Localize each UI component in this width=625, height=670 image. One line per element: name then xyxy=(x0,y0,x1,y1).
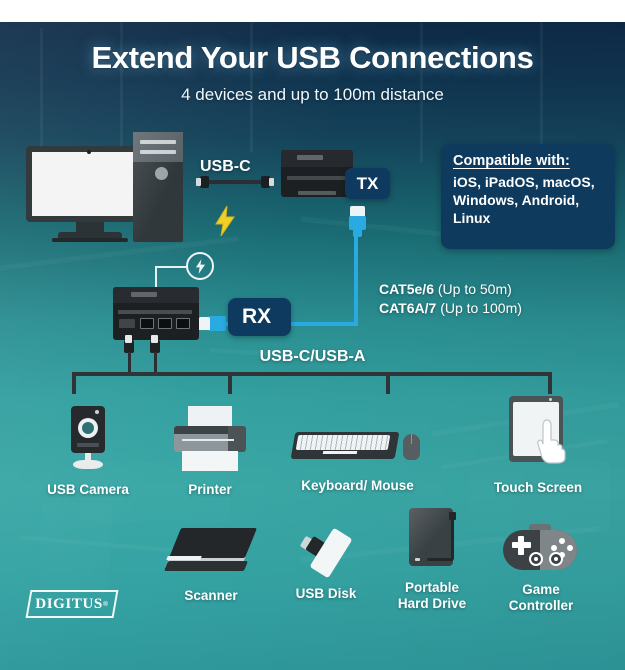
power-lead-line xyxy=(155,266,187,268)
digitus-logo-text: DIGITUS® xyxy=(28,590,116,618)
cable-distance: (Up to 50m) xyxy=(438,281,512,297)
device-keyboard-mouse: Keyboard/ Mouse xyxy=(285,406,430,494)
trademark-symbol: ® xyxy=(103,600,109,608)
page-title: Extend Your USB Connections xyxy=(0,40,625,76)
tx-badge: TX xyxy=(345,168,390,199)
compatibility-box: Compatible with: iOS, iPadOS, macOS, Win… xyxy=(441,144,615,249)
device-label-line2: Hard Drive xyxy=(382,596,482,612)
usb-disk-icon xyxy=(302,522,350,580)
device-usb-disk: USB Disk xyxy=(278,522,374,602)
rx-badge: RX xyxy=(228,298,291,336)
device-label-line1: Portable xyxy=(382,580,482,596)
device-scanner: Scanner xyxy=(152,528,270,604)
device-label: Printer xyxy=(152,482,268,498)
page-subtitle: 4 devices and up to 100m distance xyxy=(0,85,625,105)
usb-camera-icon xyxy=(59,406,117,472)
usb-c-usb-a-label: USB-C/USB-A xyxy=(0,348,625,366)
touch-screen-icon xyxy=(501,396,575,472)
device-label: Scanner xyxy=(152,588,270,604)
printer-icon xyxy=(168,406,252,472)
keyboard-mouse-icon xyxy=(293,406,423,472)
device-label: Touch Screen xyxy=(478,480,598,496)
monitor-webcam-dot xyxy=(87,150,91,154)
device-printer: Printer xyxy=(152,406,268,498)
cable-standard: CAT6A/7 xyxy=(379,300,436,316)
device-touch-screen: Touch Screen xyxy=(478,396,598,496)
brand-name: DIGITUS xyxy=(35,596,103,613)
cable-spec-list: CAT5e/6 (Up to 50m) CAT6A/7 (Up to 100m) xyxy=(379,280,522,318)
hand-pointer-icon xyxy=(535,418,569,464)
device-label: Keyboard/ Mouse xyxy=(285,478,430,494)
compatibility-title: Compatible with: xyxy=(453,153,603,169)
scanner-icon xyxy=(169,528,253,578)
cable-distance: (Up to 100m) xyxy=(440,300,522,316)
device-game-controller: Game Controller xyxy=(488,522,594,614)
device-label-line1: Game xyxy=(488,582,594,598)
usb-c-label: USB-C xyxy=(200,158,251,176)
power-bolt-icon xyxy=(214,206,236,236)
cable-spec-row: CAT6A/7 (Up to 100m) xyxy=(379,299,522,318)
device-label: USB Disk xyxy=(278,586,374,602)
power-lead-line-vertical xyxy=(155,266,157,288)
cable-standard: CAT5e/6 xyxy=(379,281,434,297)
game-controller-icon xyxy=(503,522,579,576)
device-portable-hard-drive: Portable Hard Drive xyxy=(382,508,482,612)
device-usb-camera: USB Camera xyxy=(28,406,148,498)
infographic-canvas: Extend Your USB Connections 4 devices an… xyxy=(0,0,625,670)
portable-hard-drive-icon xyxy=(403,508,461,572)
compatibility-systems: iOS, iPadOS, macOS, Windows, Android, Li… xyxy=(453,174,603,227)
power-delivery-icon xyxy=(186,252,214,280)
cable-spec-row: CAT5e/6 (Up to 50m) xyxy=(379,280,522,299)
device-label: USB Camera xyxy=(28,482,148,498)
device-label-line2: Controller xyxy=(488,598,594,614)
